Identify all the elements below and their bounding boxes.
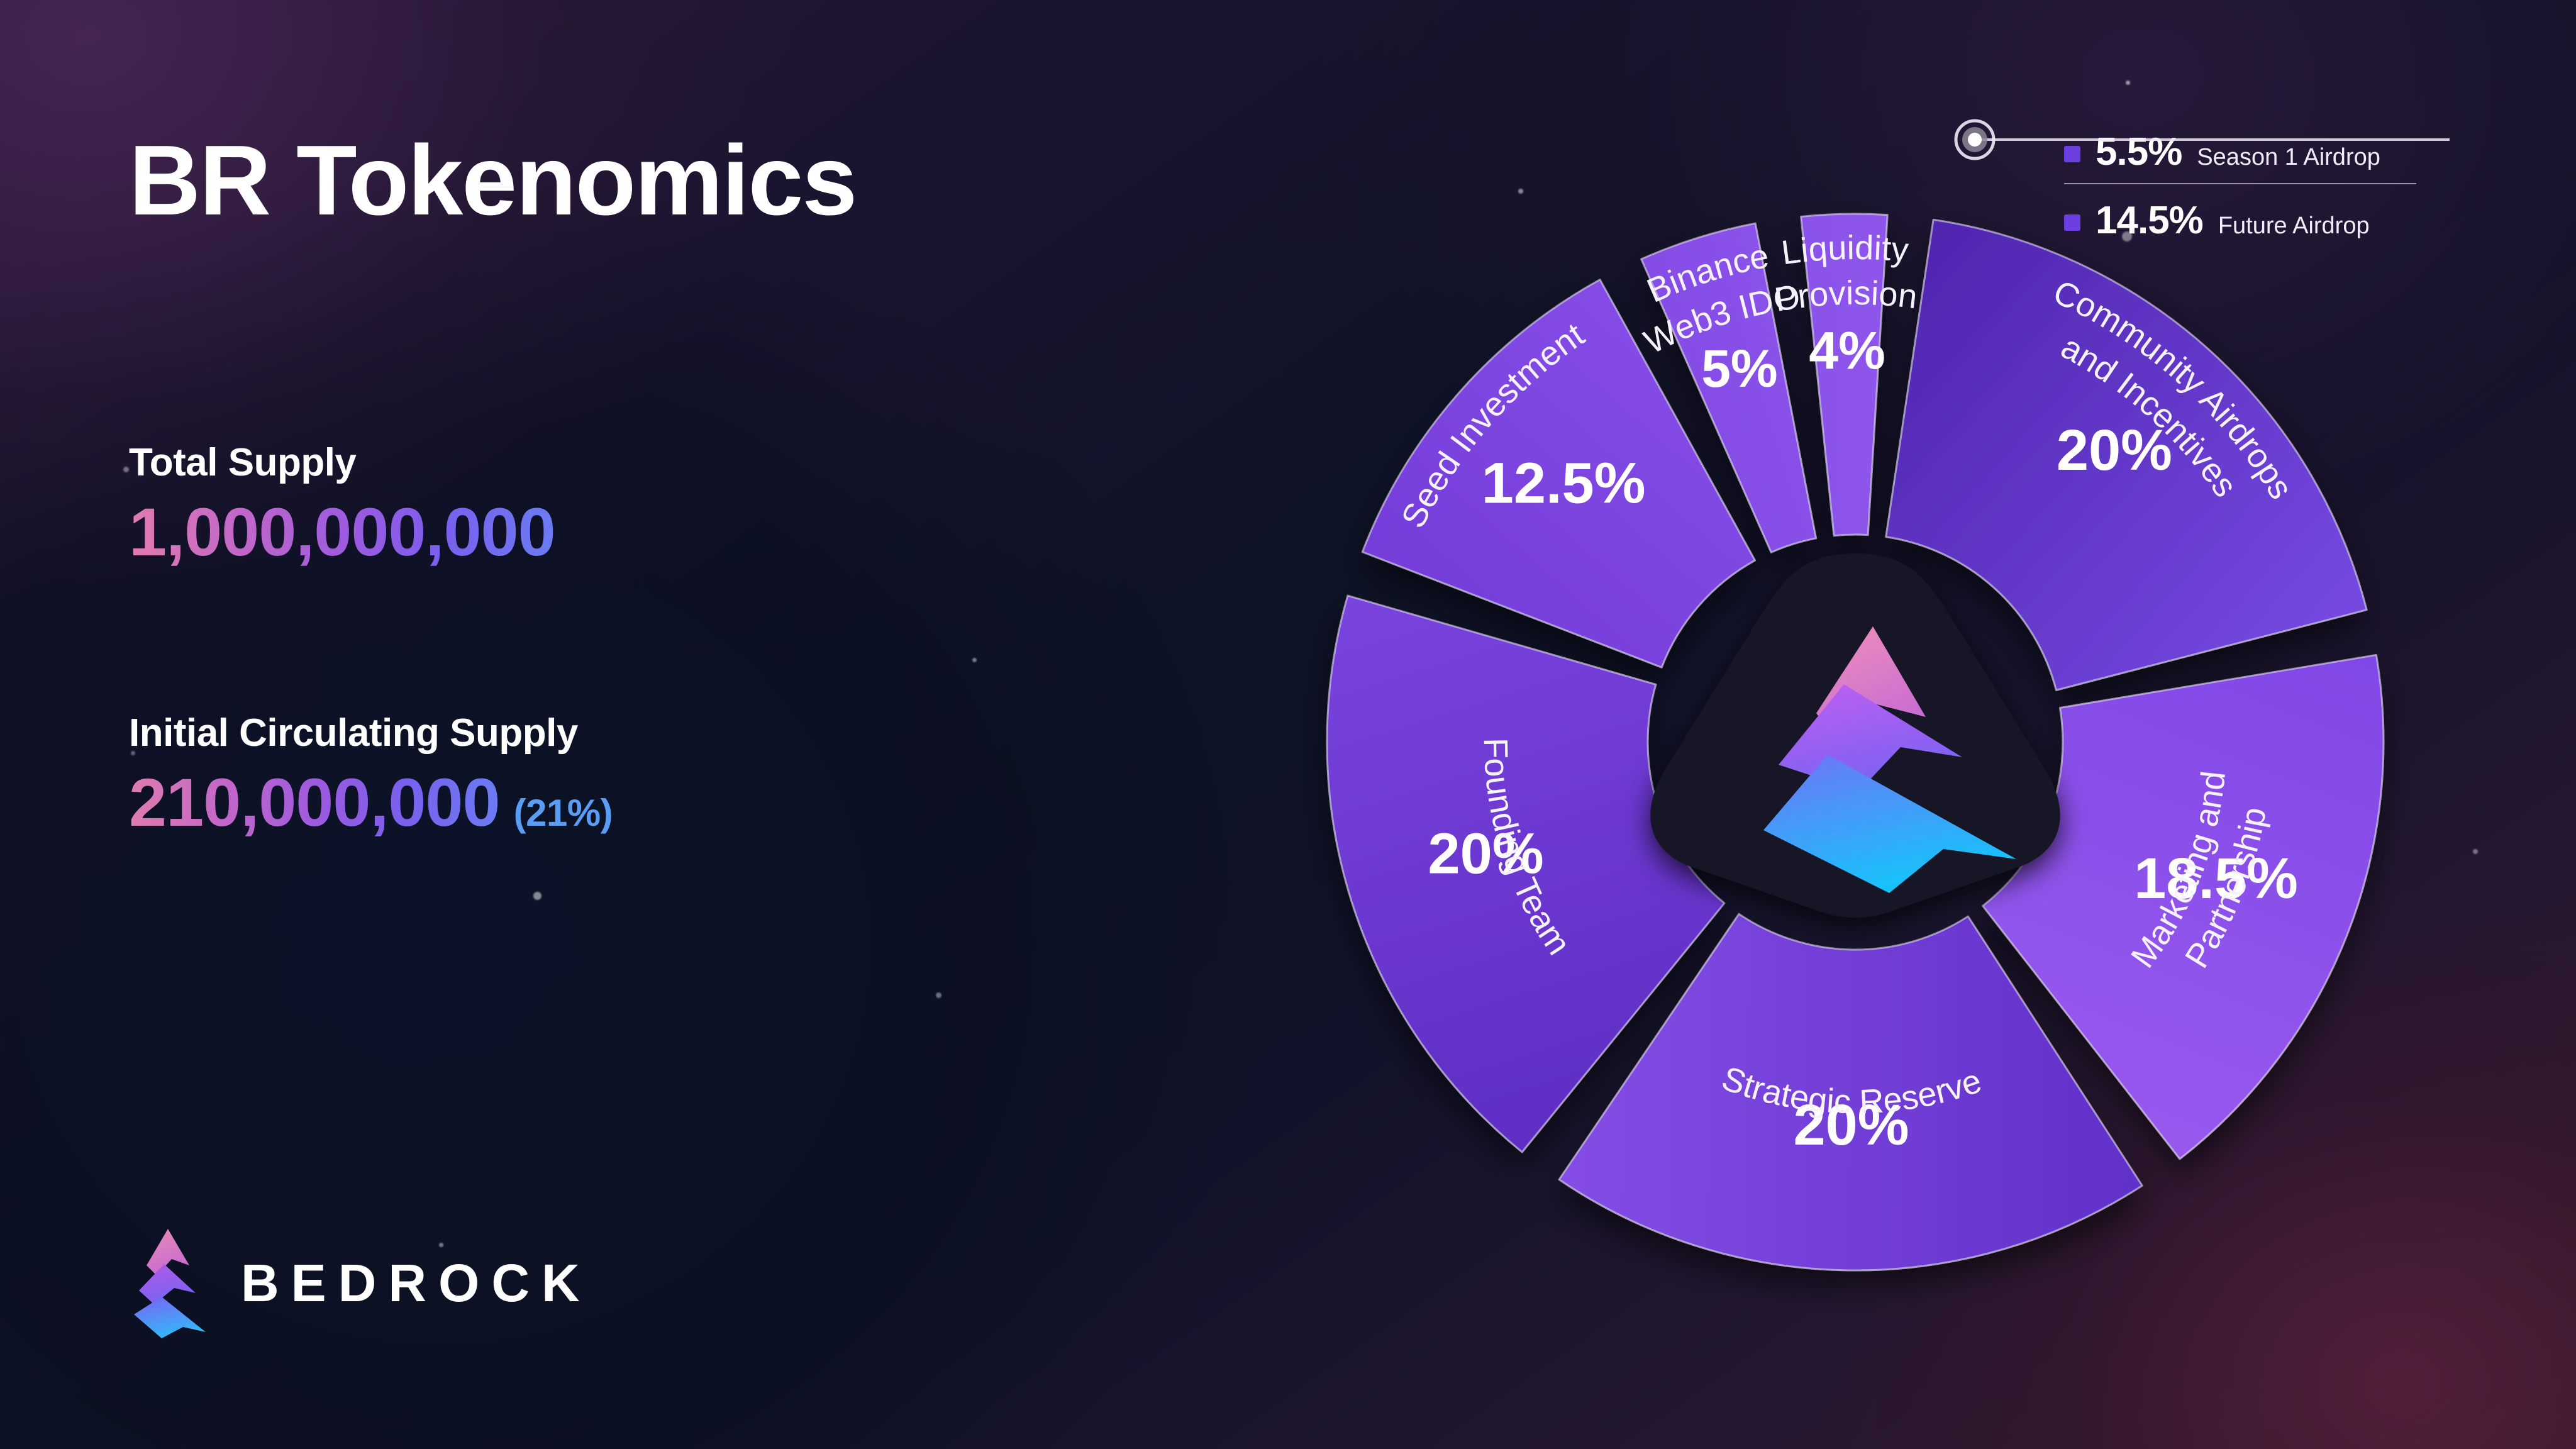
stat-initial-circulating-supply: Initial Circulating Supply 210,000,000 (… (129, 712, 613, 836)
stat-value: 1,000,000,000 (129, 498, 555, 566)
pie-slice-percent: 5% (1701, 339, 1777, 398)
bedrock-logo-icon (129, 1226, 212, 1340)
tokenomics-pie-chart: 20%Community Airdropsand Incentives18.5%… (1252, 107, 2459, 1428)
pie-slice-percent: 12.5% (1482, 452, 1646, 516)
brand-wordmark: BEDROCK (241, 1253, 592, 1314)
center-logo-icon (1650, 553, 2060, 918)
stat-label: Total Supply (129, 441, 555, 484)
stat-suffix: (21%) (514, 791, 613, 835)
stat-value: 210,000,000 (129, 769, 500, 836)
page-title: BR Tokenomics (129, 129, 856, 233)
stat-label: Initial Circulating Supply (129, 712, 613, 755)
tokenomics-infographic: BR Tokenomics Total Supply 1,000,000,000… (0, 0, 2576, 1449)
pie-slice-label: Liquidity (1779, 229, 1910, 272)
stat-total-supply: Total Supply 1,000,000,000 (129, 441, 555, 566)
pie-slice-percent: 4% (1809, 321, 1885, 380)
callout-leader (1956, 121, 2450, 158)
bedrock-brand: BEDROCK (129, 1226, 592, 1340)
